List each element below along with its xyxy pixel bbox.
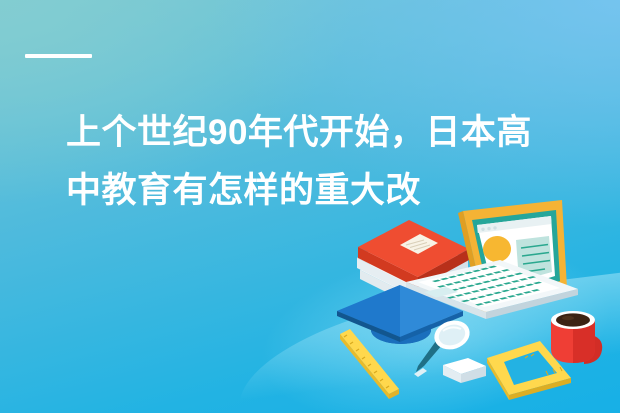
- coffee-mug-icon: [551, 311, 602, 364]
- eraser-icon: [443, 358, 486, 383]
- graduation-cap-icon: [337, 285, 463, 344]
- desk-edge: [229, 272, 620, 413]
- ruler-icon: [340, 329, 399, 399]
- desk-glow: [236, 215, 620, 413]
- triangle-ruler-icon: [487, 341, 571, 400]
- accent-rule: [25, 54, 92, 58]
- magnifying-glass-icon: [414, 316, 473, 377]
- promo-banner: 上个世纪90年代开始，日本高中教育有怎样的重大改: [0, 0, 620, 413]
- banner-headline: 上个世纪90年代开始，日本高中教育有怎样的重大改: [66, 104, 536, 220]
- book-stack-icon: [357, 220, 470, 309]
